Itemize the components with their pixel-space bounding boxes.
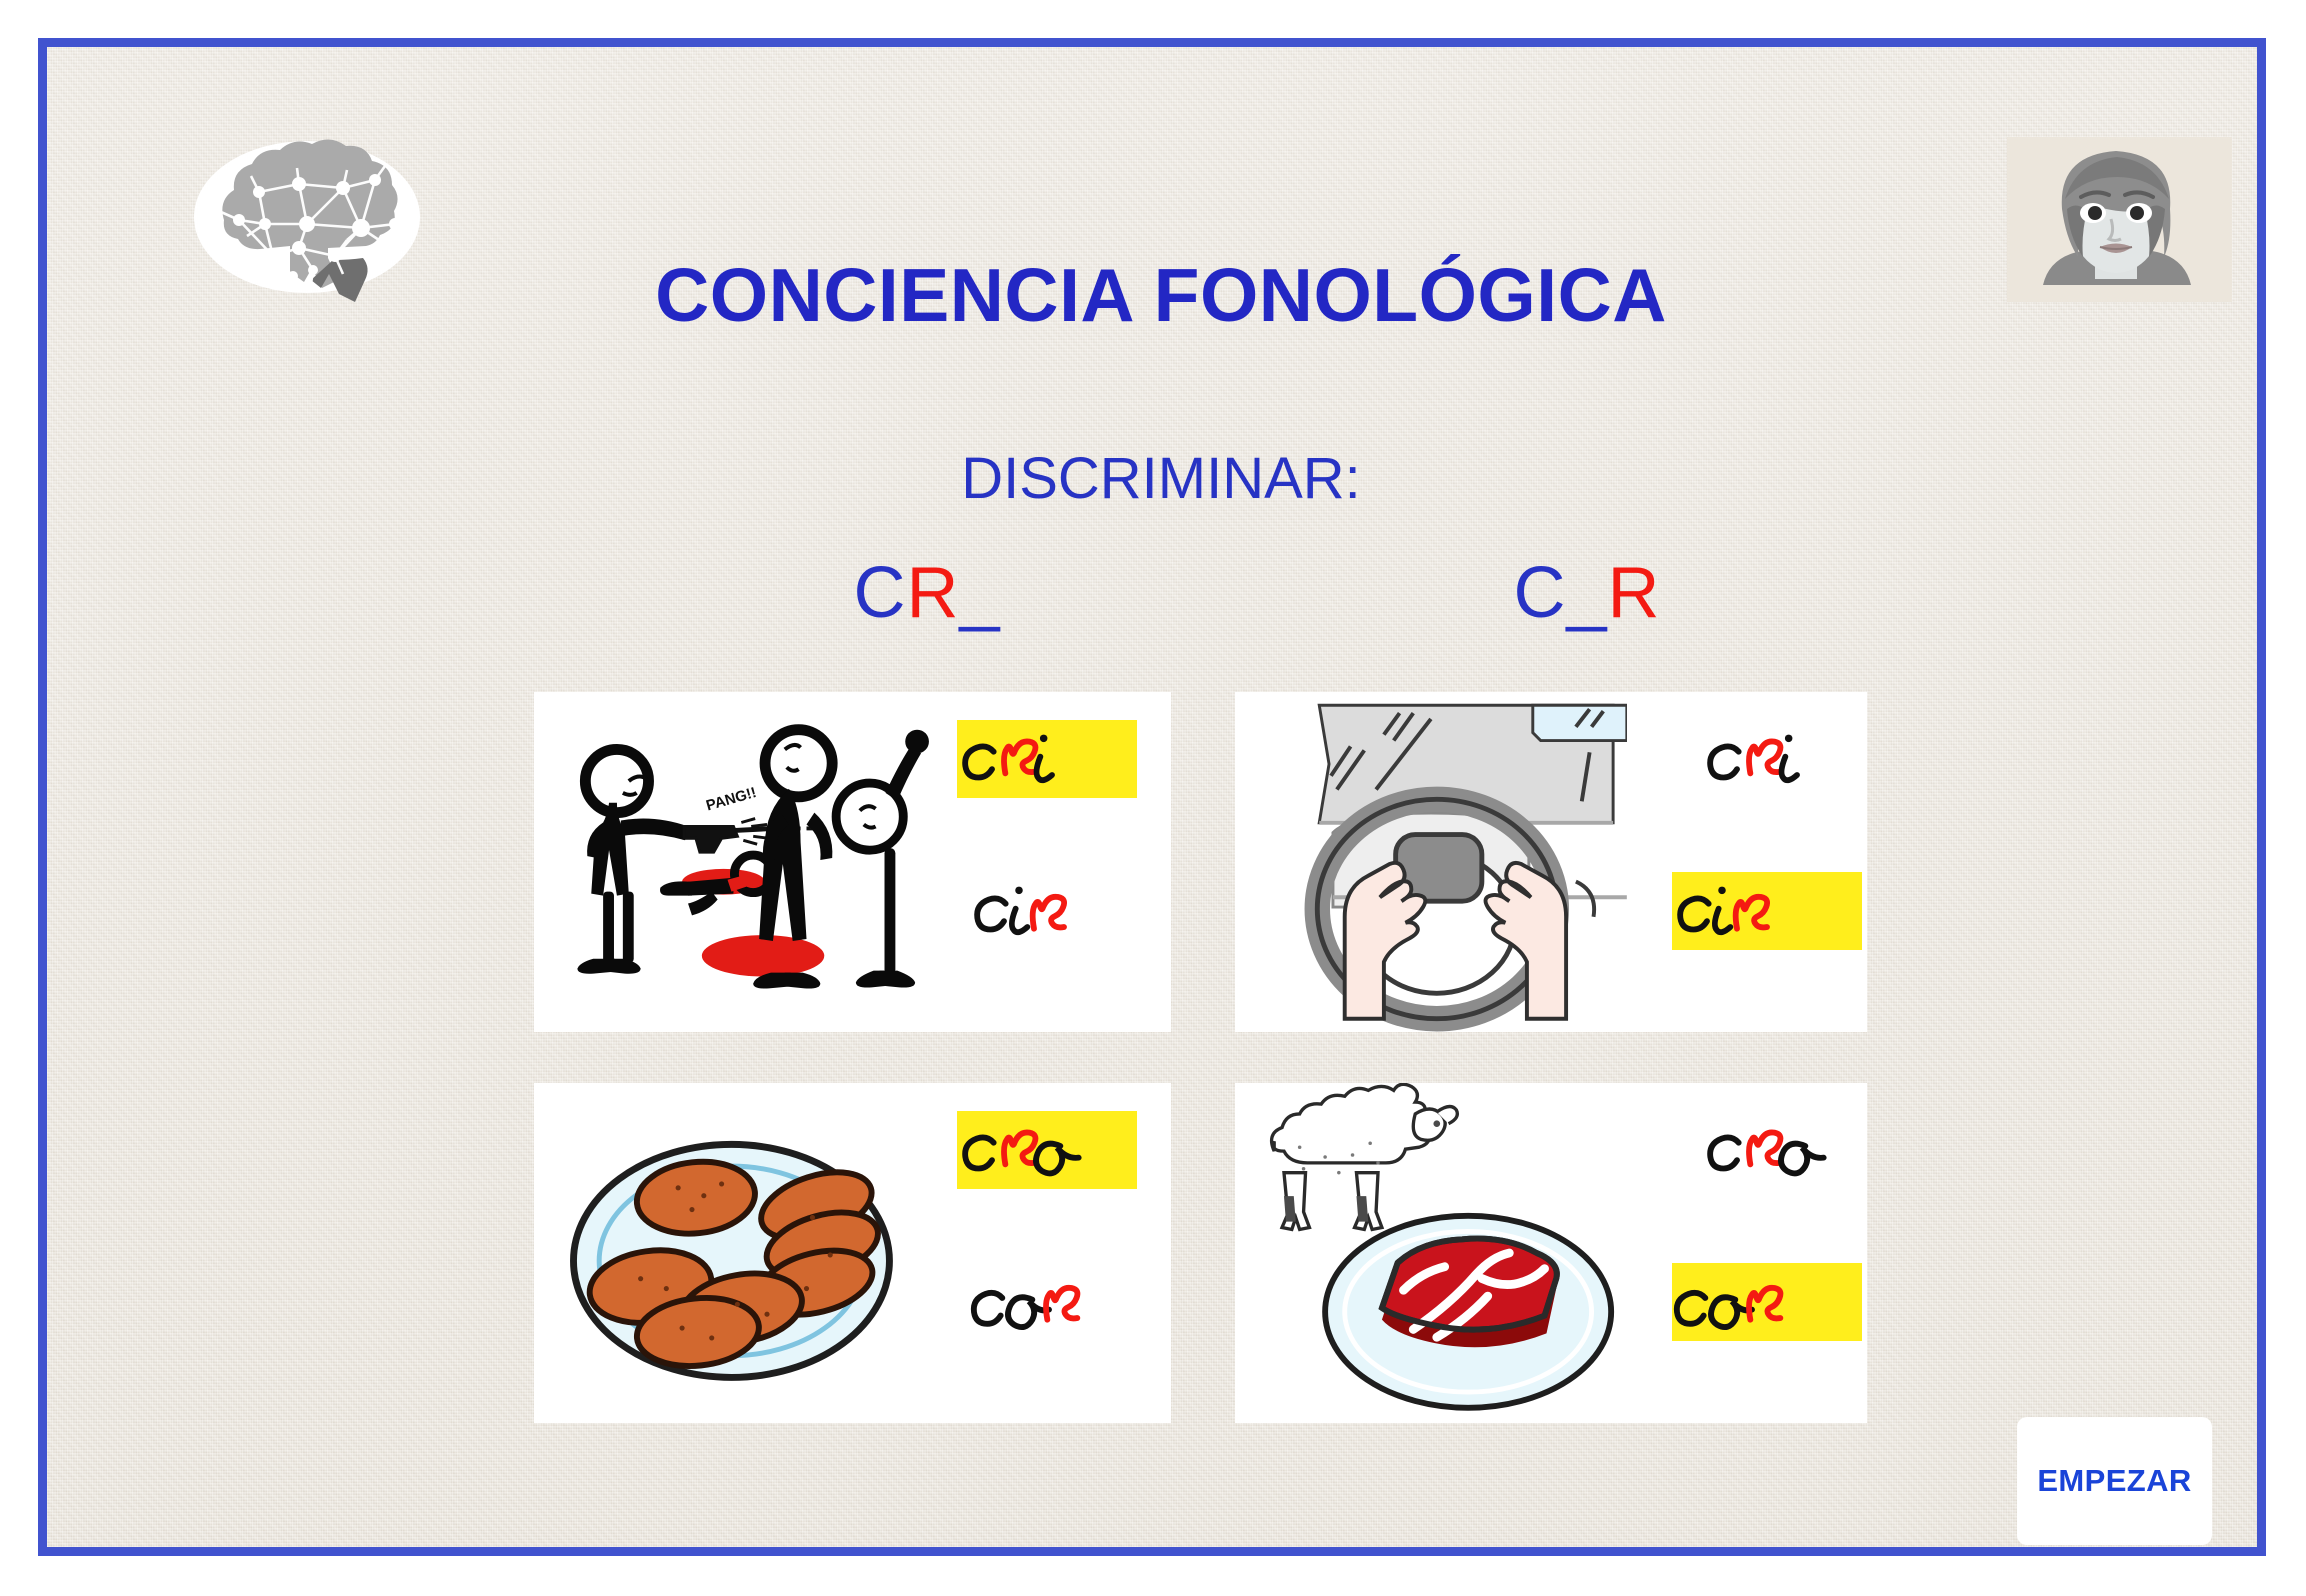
lamb-and-meat-plate-image xyxy=(1235,1083,1627,1423)
word-option[interactable] xyxy=(969,872,1119,950)
lamb-meat-icon xyxy=(1235,1083,1627,1423)
start-button-label: EMPEZAR xyxy=(2037,1463,2191,1499)
cursive-word-cor xyxy=(969,1263,1119,1333)
word-option[interactable] xyxy=(957,720,1137,798)
cursive-word-cri xyxy=(1702,720,1852,790)
page-subtitle: DISCRIMINAR: xyxy=(47,445,2275,512)
cursive-word-cro xyxy=(1702,1111,1852,1181)
exercise-card[interactable] xyxy=(1235,1083,1867,1423)
word-options xyxy=(919,692,1161,1032)
cursive-word-cir xyxy=(969,872,1119,942)
slide-frame: CONCIENCIA FONOLÓGICA DISCRIMINAR: CR_ C… xyxy=(38,38,2266,1556)
exercise-card[interactable] xyxy=(534,1083,1171,1423)
pattern-header-c-r: C_R xyxy=(1367,552,1807,634)
cursive-word-cor xyxy=(1672,1263,1822,1333)
word-option[interactable] xyxy=(969,1263,1119,1341)
word-option[interactable] xyxy=(957,1111,1137,1189)
plate-of-croquettes-image xyxy=(534,1083,929,1423)
start-button[interactable]: EMPEZAR xyxy=(2017,1417,2212,1545)
exercise-card[interactable]: PANG!! xyxy=(534,692,1171,1032)
pattern-letter-r: R xyxy=(906,553,959,633)
steering-wheel-icon xyxy=(1235,692,1627,1032)
exercise-card[interactable] xyxy=(1235,692,1867,1032)
pattern-letter-blank: _ xyxy=(959,553,1000,633)
word-options xyxy=(919,1083,1161,1423)
word-option[interactable] xyxy=(1672,872,1862,950)
word-option[interactable] xyxy=(1702,1111,1852,1189)
slide-root: CONCIENCIA FONOLÓGICA DISCRIMINAR: CR_ C… xyxy=(0,0,2306,1596)
crime-scene-stick-figures-image: PANG!! xyxy=(534,692,929,1032)
word-options xyxy=(1617,692,1857,1032)
crime-scene-icon: PANG!! xyxy=(534,692,929,1032)
page-title: CONCIENCIA FONOLÓGICA xyxy=(47,252,2275,338)
word-options xyxy=(1617,1083,1857,1423)
pattern-letter-c: C xyxy=(1513,553,1566,633)
cursive-word-cir xyxy=(1672,872,1822,942)
pattern-letter-blank: _ xyxy=(1566,553,1607,633)
cursive-word-cri xyxy=(957,720,1107,790)
pattern-header-cr: CR_ xyxy=(707,552,1147,634)
word-option[interactable] xyxy=(1672,1263,1862,1341)
word-option[interactable] xyxy=(1702,720,1852,798)
steering-wheel-hands-image xyxy=(1235,692,1627,1032)
cursive-word-cro xyxy=(957,1111,1107,1181)
croquettes-icon xyxy=(534,1083,929,1423)
pang-text: PANG!! xyxy=(704,785,758,815)
pattern-letter-r: R xyxy=(1608,553,1661,633)
pattern-letter-c: C xyxy=(853,553,906,633)
